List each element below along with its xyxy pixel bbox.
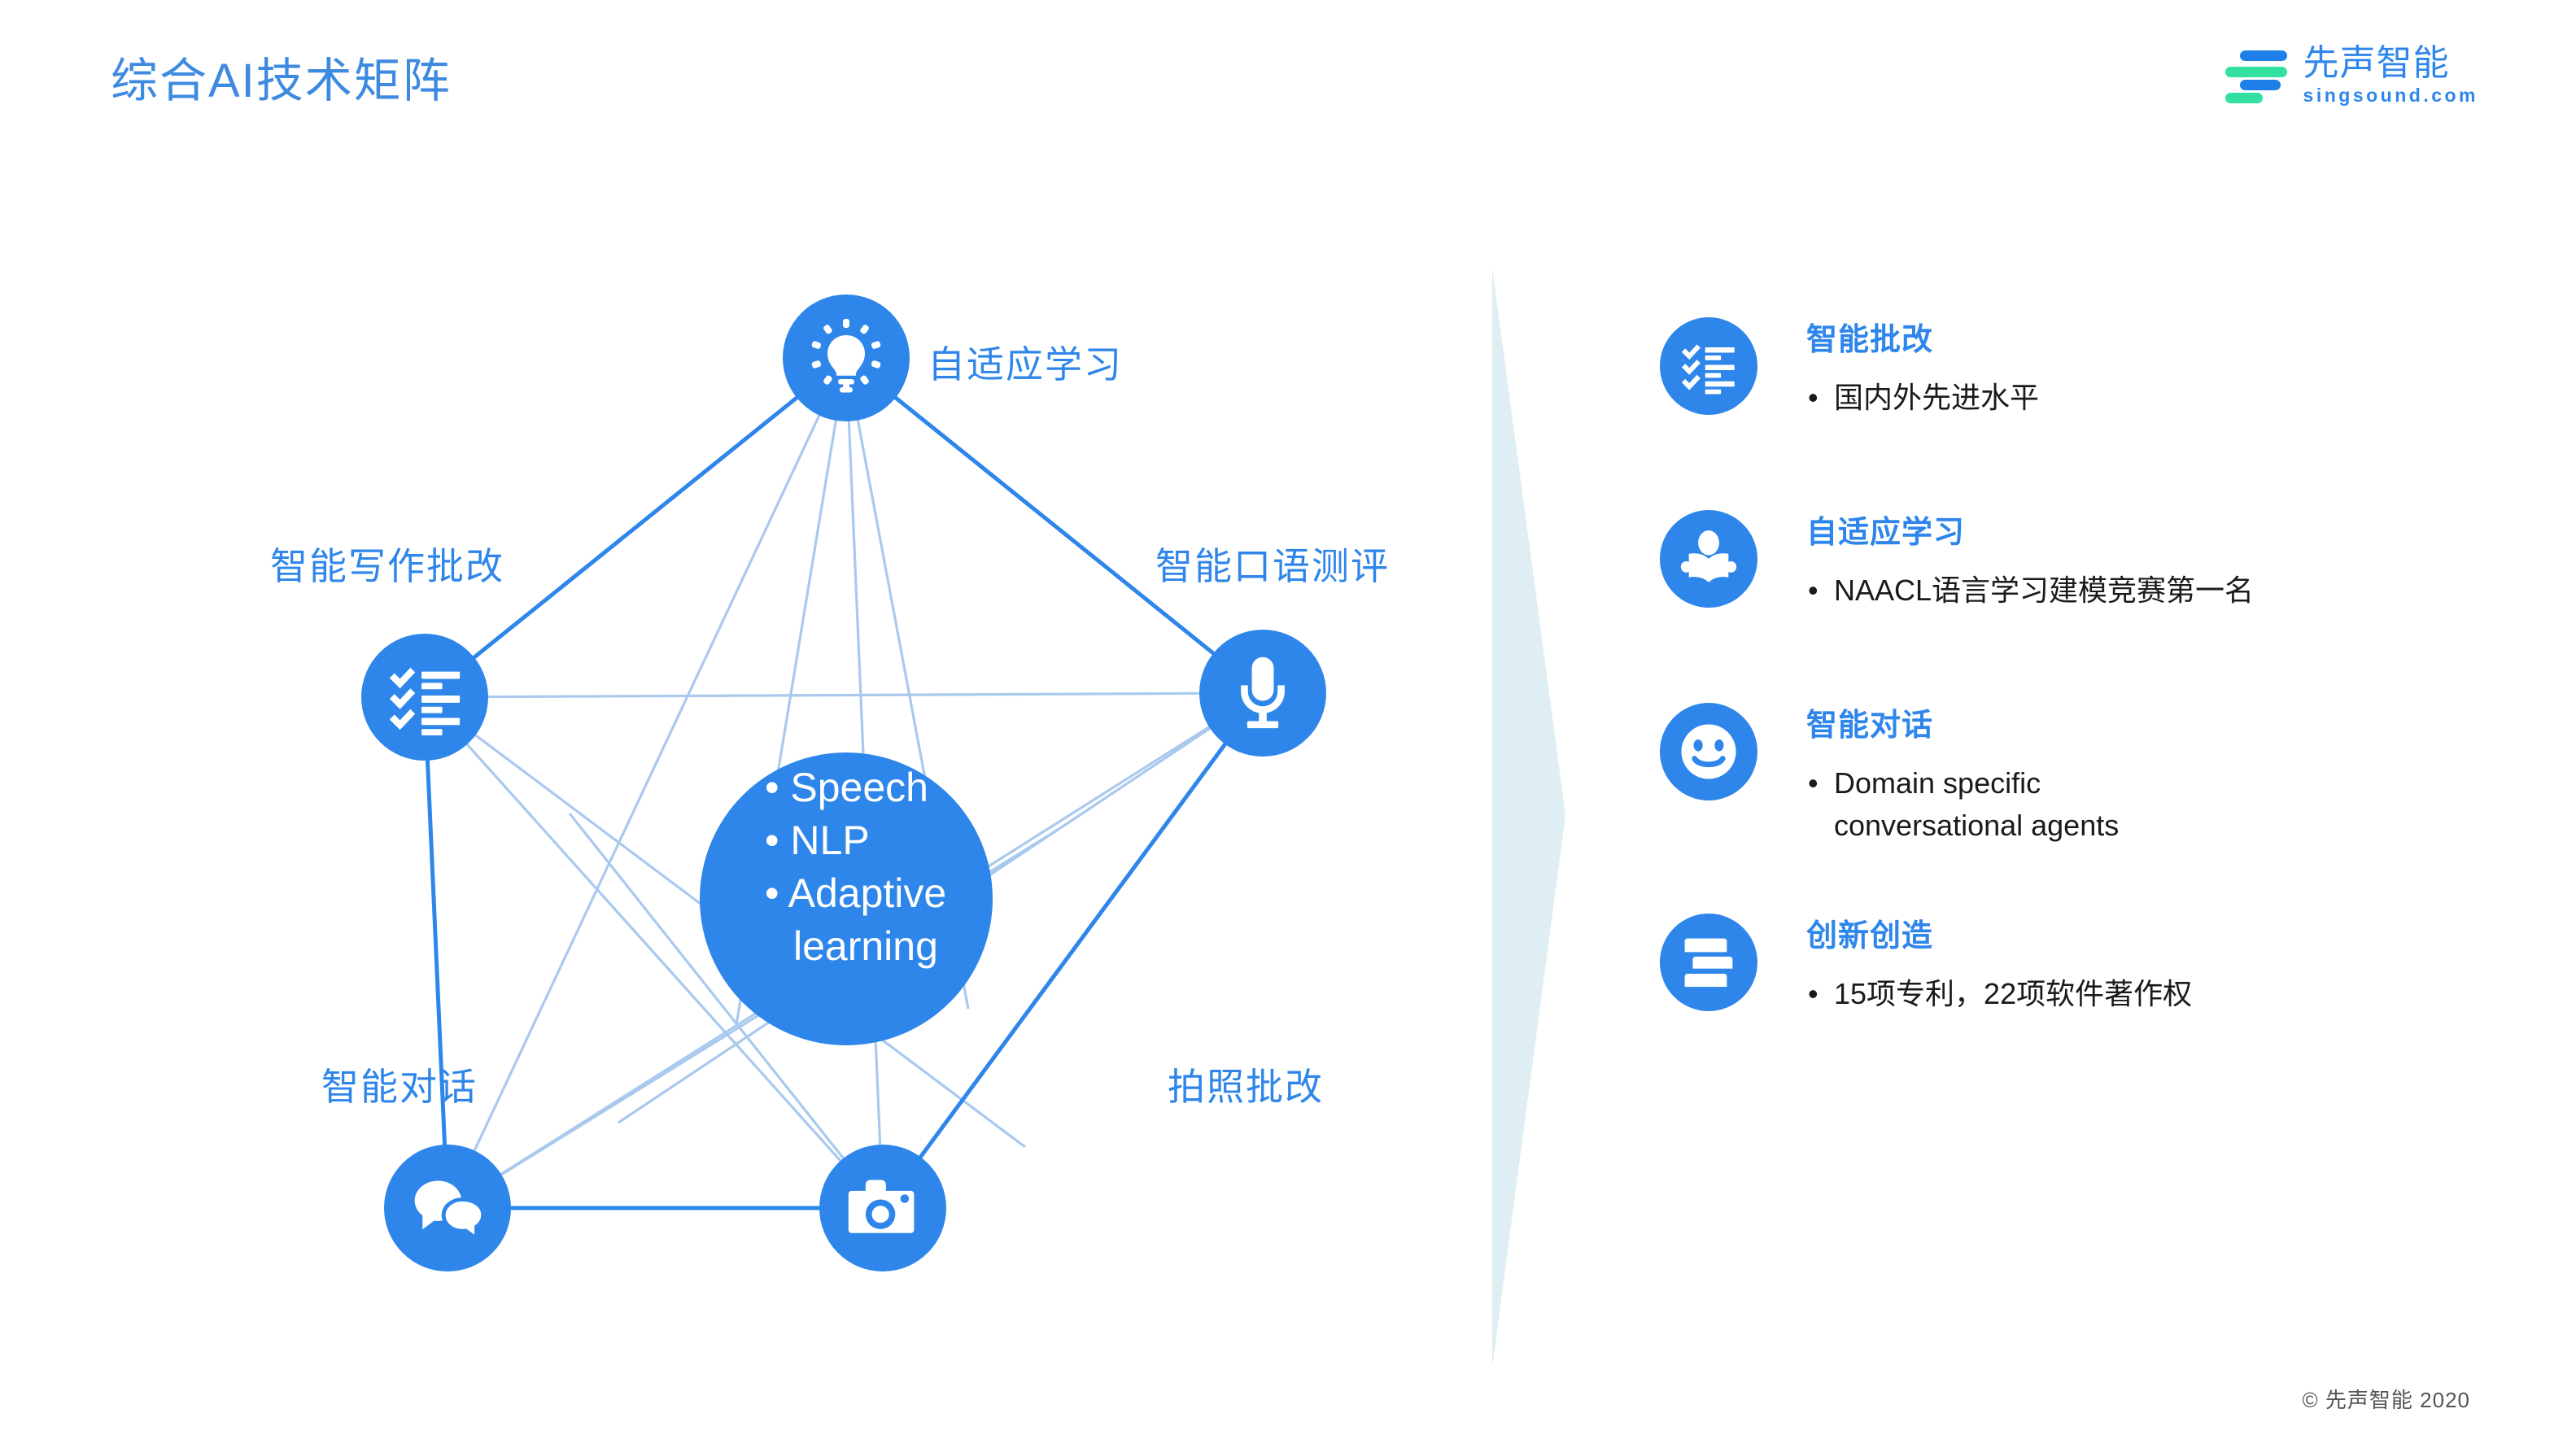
brand-logo: 先声智能 singsound.com bbox=[2225, 46, 2478, 105]
feature-bullet: 国内外先进水平 bbox=[1806, 377, 2039, 419]
svg-text:• Adaptive: • Adaptive bbox=[765, 870, 946, 916]
feature-item-smart-grading[interactable]: 智能批改 国内外先进水平 bbox=[1660, 309, 2473, 443]
center-bubble: • Speech • NLP • Adaptive learning bbox=[700, 752, 993, 1045]
feature-list: 智能批改 国内外先进水平 自适应学习 NAACL语言学习建模竞赛第一名 bbox=[1660, 309, 2473, 1098]
feature-item-smart-dialogue[interactable]: 智能对话 Domain specific conversational agen… bbox=[1660, 695, 2473, 847]
svg-text:• NLP: • NLP bbox=[765, 818, 870, 863]
node-spoken-assessment bbox=[1199, 630, 1326, 757]
checklist-icon bbox=[1660, 317, 1757, 415]
node-smart-dialogue bbox=[384, 1145, 511, 1271]
feature-bullet: 15项专利，22项软件著作权 bbox=[1806, 973, 2192, 1015]
feature-item-innovation[interactable]: 创新创造 15项专利，22项软件著作权 bbox=[1660, 905, 2473, 1040]
feature-bullet: Domain specific conversational agents bbox=[1806, 762, 2119, 847]
node-label-smart-dialogue: 智能对话 bbox=[321, 1058, 478, 1111]
smiley-face-icon bbox=[1660, 703, 1757, 800]
node-writing-correction bbox=[361, 634, 488, 761]
node-adaptive-learning bbox=[783, 294, 910, 421]
feature-bullet: NAACL语言学习建模竞赛第一名 bbox=[1806, 569, 2254, 612]
chevron-divider bbox=[1456, 268, 1603, 1367]
svg-text:learning: learning bbox=[793, 923, 938, 969]
page-title: 综合AI技术矩阵 bbox=[111, 42, 452, 111]
node-photo-correction bbox=[819, 1145, 946, 1271]
books-icon bbox=[1660, 914, 1757, 1011]
node-label-spoken-assessment: 智能口语测评 bbox=[1155, 537, 1390, 591]
node-label-adaptive-learning: 自适应学习 bbox=[928, 335, 1123, 389]
logo-name-en: singsound.com bbox=[2303, 86, 2478, 105]
feature-title: 自适应学习 bbox=[1806, 507, 2254, 552]
logo-bars-icon bbox=[2225, 49, 2289, 102]
svg-text:• Speech: • Speech bbox=[765, 765, 928, 810]
footer-copyright: © 先声智能 2020 bbox=[2303, 1384, 2470, 1414]
logo-name-cn: 先声智能 bbox=[2303, 46, 2478, 81]
technology-matrix-diagram: • Speech • NLP • Adaptive learning 自适应学 bbox=[0, 212, 1546, 1415]
person-reading-icon bbox=[1660, 510, 1757, 608]
feature-item-adaptive-learning[interactable]: 自适应学习 NAACL语言学习建模竞赛第一名 bbox=[1660, 502, 2473, 636]
node-label-photo-correction: 拍照批改 bbox=[1168, 1058, 1324, 1111]
feature-title: 创新创造 bbox=[1806, 910, 2192, 955]
feature-title: 智能对话 bbox=[1806, 700, 2119, 744]
node-label-writing-correction: 智能写作批改 bbox=[270, 537, 504, 591]
feature-title: 智能批改 bbox=[1806, 314, 2039, 359]
